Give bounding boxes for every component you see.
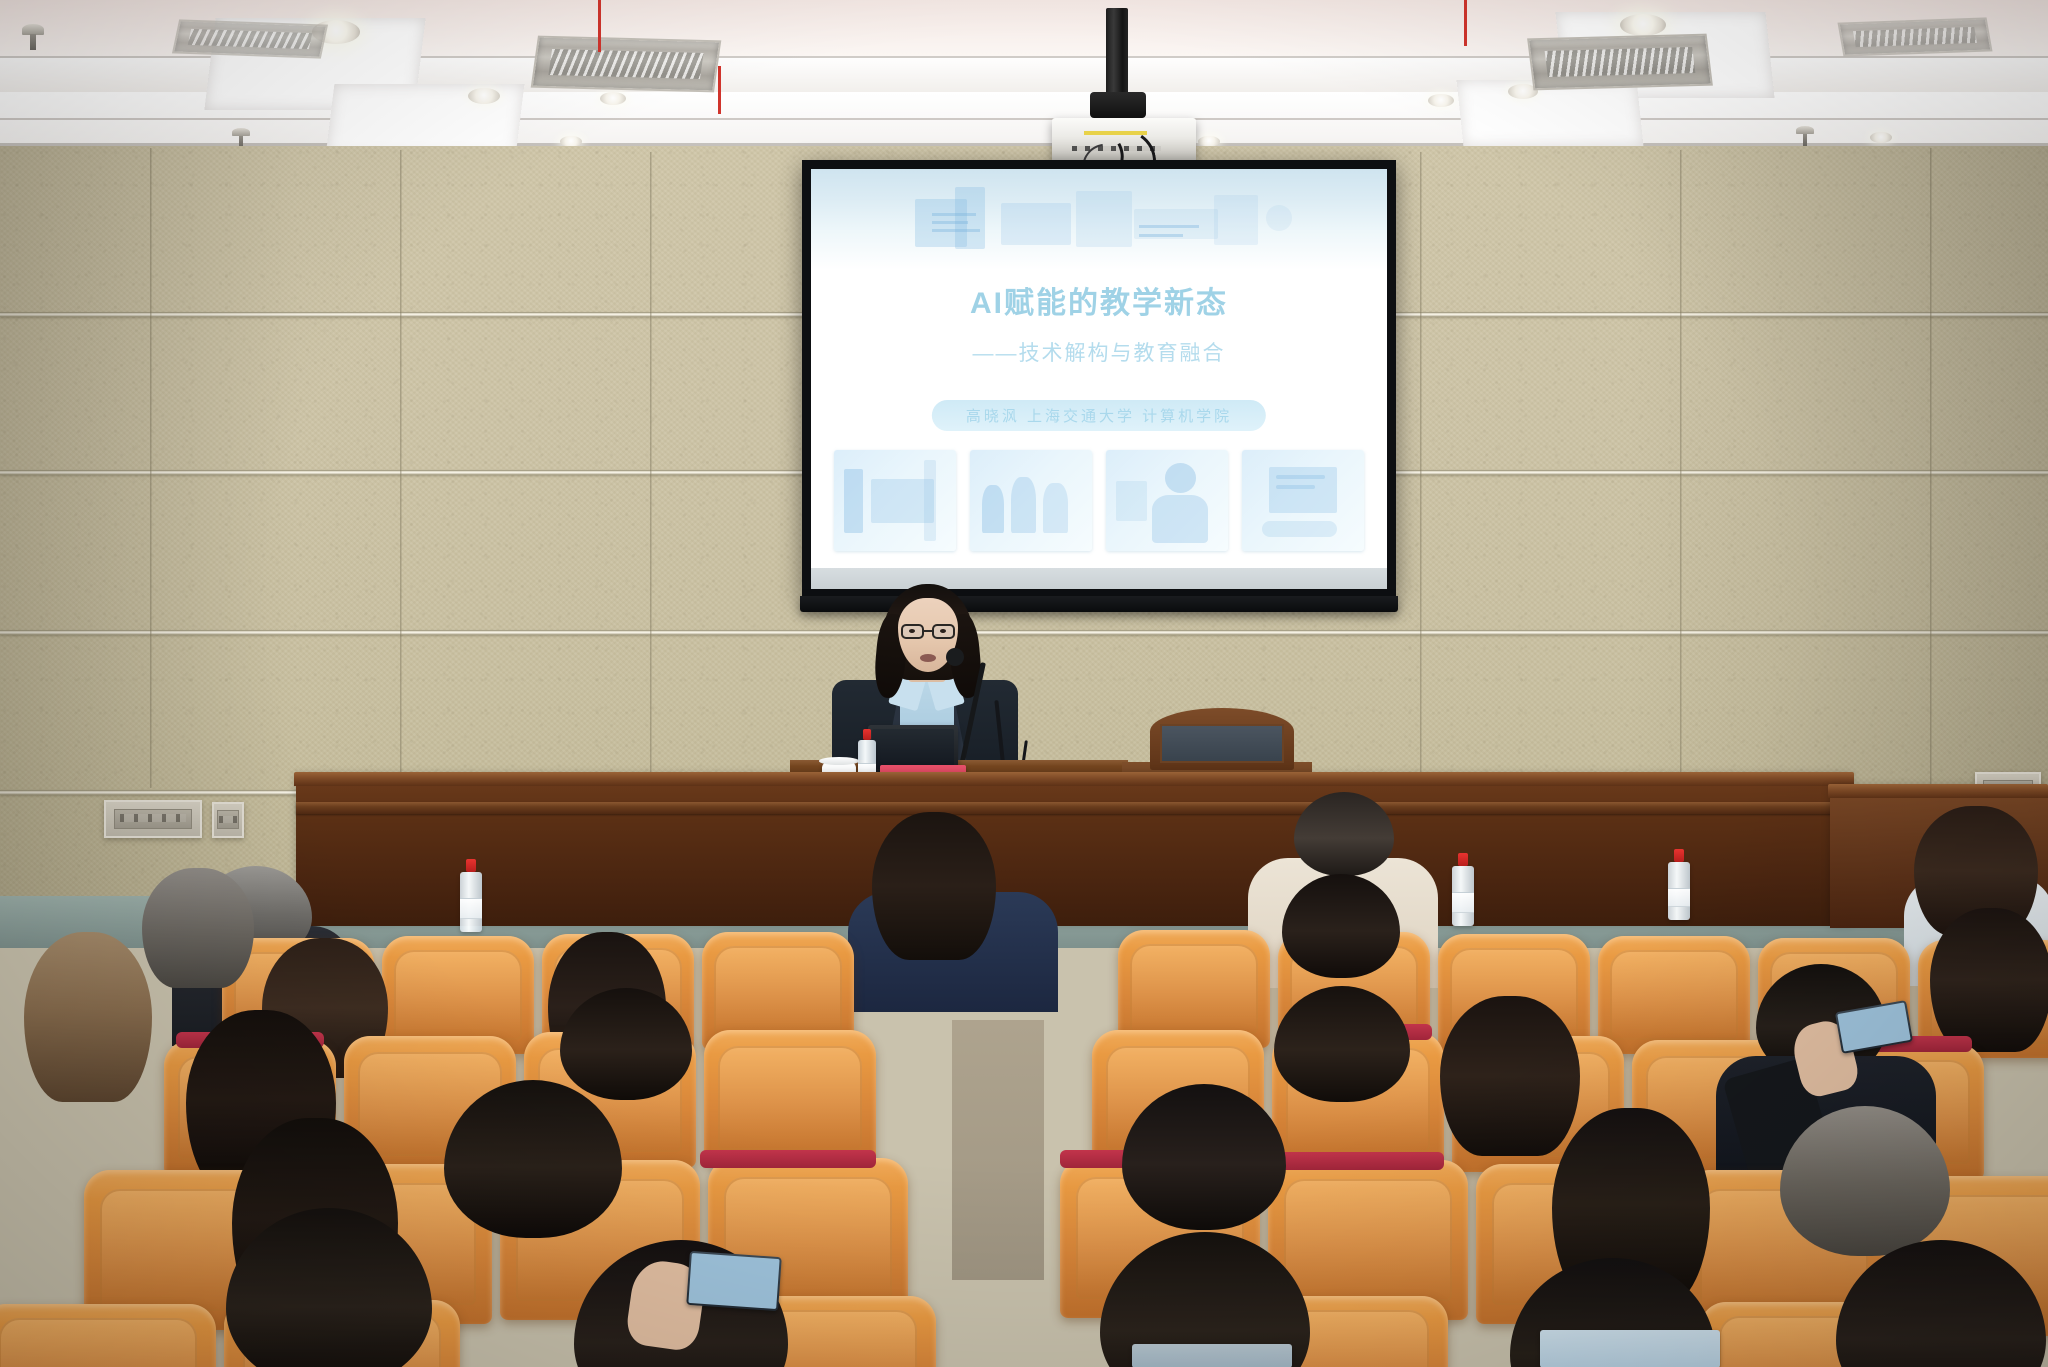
seating-aisle [952,1020,1044,1280]
water-bottle [1668,862,1690,920]
slide-title: AI赋能的教学新态 [811,278,1387,322]
downlight-icon [1870,132,1892,143]
speaker-glasses-bridge [923,630,933,632]
downlight-icon [1428,94,1454,107]
speaker-eye [940,629,946,633]
slide-thumbnail [970,450,1092,551]
projection-screen-surface: AI赋能的教学新态 ——技术解构与教育融合 高晓沨 上海交通大学 计算机学院 [811,169,1387,589]
downlight-icon [1620,14,1666,36]
wall-control-panel[interactable] [212,802,244,838]
microphone-head [946,648,964,666]
speaker-eye [909,629,915,633]
speaker-mouth [920,654,936,662]
projector-mount-pole [1106,8,1128,98]
projector-mount-bracket [1090,92,1146,118]
slide-subtitle: ——技术解构与教育融合 [811,337,1387,367]
front-desk-molding [296,802,1852,814]
ceiling-red-cord [1464,0,1467,46]
attendee-hair [142,868,254,988]
wall-trim-line [0,630,2048,635]
hvac-vent-icon [531,36,722,93]
slide-thumbnail [834,450,956,551]
attendee-hair [1440,996,1580,1156]
wall-panel-seam [650,152,652,792]
slide-footer-bar [811,568,1387,589]
water-bottle [460,872,482,932]
wall-panel-seam [1930,148,1932,788]
lecture-hall-photo: AI赋能的教学新态 ——技术解构与教育融合 高晓沨 上海交通大学 计算机学院 [0,0,2048,1367]
wall-panel-seam [400,150,402,790]
wall-panel-seam [1680,150,1682,790]
slide-header-image [811,169,1387,270]
auditorium-seat [1598,936,1750,1054]
slide-thumbnail-row [834,450,1364,551]
attendee-hair [24,932,152,1102]
wall-panel-seam [1420,152,1422,792]
wall-control-panel[interactable] [104,800,202,838]
wall-panel-seam [150,148,152,788]
downlight-icon [600,92,626,105]
attendee-hair [872,812,996,960]
hvac-vent-icon [1527,34,1713,91]
ceiling [0,0,2048,150]
attendee-head [1294,792,1394,876]
front-desk-barrier [296,776,1852,926]
front-desk-cap [294,772,1854,786]
smartphone[interactable] [686,1251,782,1311]
slide-thumbnail [1242,450,1364,551]
slide-presenter-line: 高晓沨 上海交通大学 计算机学院 [932,400,1266,431]
presentation-slide: AI赋能的教学新态 ——技术解构与教育融合 高晓沨 上海交通大学 计算机学院 [811,169,1387,589]
sprinkler-head-icon [232,128,250,148]
tablet-screen[interactable] [1540,1330,1720,1367]
water-bottle [1452,866,1474,926]
attendee-hair [1930,908,2048,1052]
tablet-screen[interactable] [1132,1344,1292,1367]
hvac-vent-icon [172,19,328,58]
slide-thumbnail [1106,450,1228,551]
ceiling-red-cord [598,0,601,52]
ceiling-red-cord [718,66,721,114]
sprinkler-head-icon [1796,126,1814,146]
auditorium-seat [704,1030,876,1166]
seat-cushion [700,1150,876,1168]
front-desk-cap-right [1828,784,2048,798]
seat-cushion [1268,1152,1444,1170]
projection-screen: AI赋能的教学新态 ——技术解构与教育融合 高晓沨 上海交通大学 计算机学院 [802,160,1396,598]
sprinkler-head-icon [22,24,44,50]
hvac-vent-icon [1837,17,1992,56]
downlight-icon [468,88,500,104]
auditorium-seat [0,1304,216,1367]
secondary-lectern [1150,708,1294,770]
